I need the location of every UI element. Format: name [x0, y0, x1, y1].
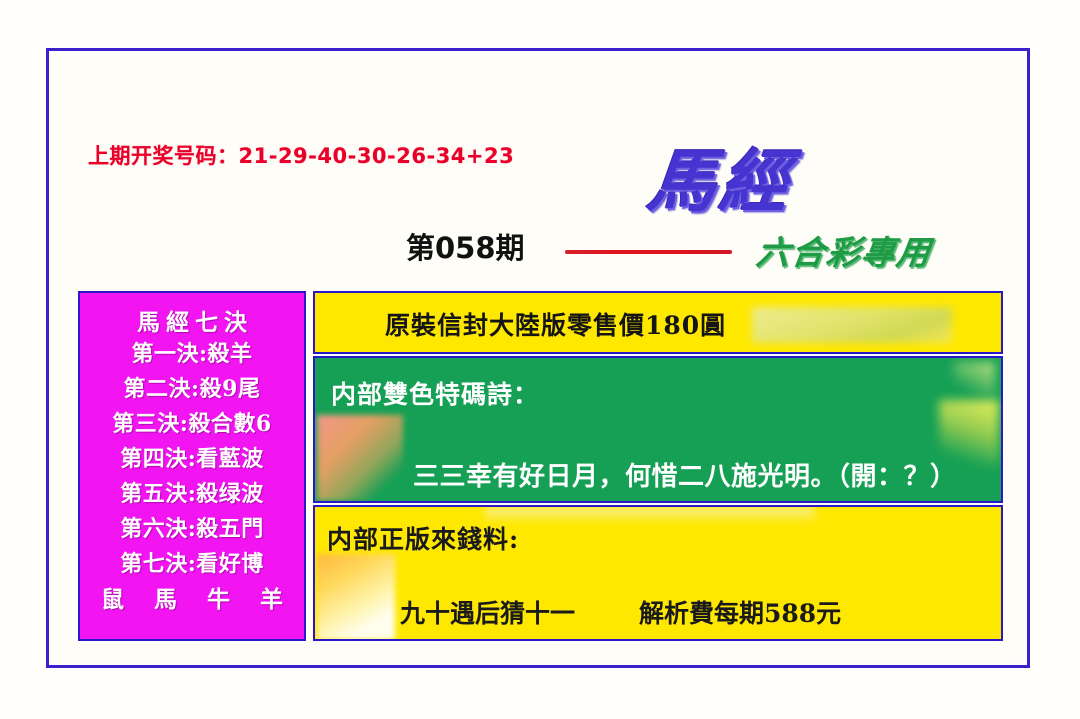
red-divider-rule — [565, 250, 732, 254]
money-panel-smudge-top — [485, 507, 815, 523]
money-panel-smudge-left — [317, 554, 395, 640]
money-label: 内部正版來錢料: — [327, 520, 519, 556]
poem-label: 内部雙色特碼詩： — [331, 375, 539, 411]
decision-row-5: 第五決:殺绿波 — [80, 477, 304, 512]
last-draw-numbers: 上期开奖号码：21-29-40-30-26-34+23 — [88, 140, 514, 170]
seven-decisions-title: 馬經七決 — [80, 303, 304, 337]
decision-row-3: 第三決:殺合數6 — [80, 407, 304, 442]
brand-subtitle: 六合彩專用 — [754, 226, 936, 274]
decision-row-6: 第六決:殺五門 — [80, 512, 304, 547]
price-text: 原裝信封大陸版零售價180圓 — [385, 306, 726, 342]
poem-panel-smudge-top-right — [953, 362, 995, 396]
decision-row-2: 第二決:殺9尾 — [80, 372, 304, 407]
poem-text: 三三幸有好日月，何惜二八施光明。（開：？） — [413, 456, 957, 493]
poem-panel-smudge-left — [317, 415, 403, 501]
right-panels-column: 原裝信封大陸版零售價180圓 内部雙色特碼詩： 三三幸有好日月，何惜二八施光明。… — [313, 291, 1003, 641]
money-tip-text: 九十遇后猜十一 — [400, 594, 575, 630]
money-panel: 内部正版來錢料: 九十遇后猜十一 解析費每期588元 — [313, 505, 1003, 641]
money-fee-text: 解析費每期588元 — [639, 594, 841, 630]
decision-row-1: 第一決:殺羊 — [80, 337, 304, 372]
price-panel-smudge — [752, 307, 952, 343]
decision-row-4: 第四決:看藍波 — [80, 442, 304, 477]
zodiac-row: 鼠 馬 牛 羊 — [80, 582, 304, 617]
brand-title: 馬經 — [644, 126, 798, 225]
seven-decisions-panel: 馬經七決 第一決:殺羊 第二決:殺9尾 第三決:殺合數6 第四決:看藍波 第五決… — [78, 291, 306, 641]
header-region: 上期开奖号码：21-29-40-30-26-34+23 第058期 馬經 六合彩… — [46, 48, 1030, 288]
decision-row-7: 第七決:看好博 — [80, 547, 304, 582]
price-panel: 原裝信封大陸版零售價180圓 — [313, 291, 1003, 354]
poem-panel: 内部雙色特碼詩： 三三幸有好日月，何惜二八施光明。（開：？） — [313, 356, 1003, 503]
issue-number: 第058期 — [406, 225, 525, 267]
